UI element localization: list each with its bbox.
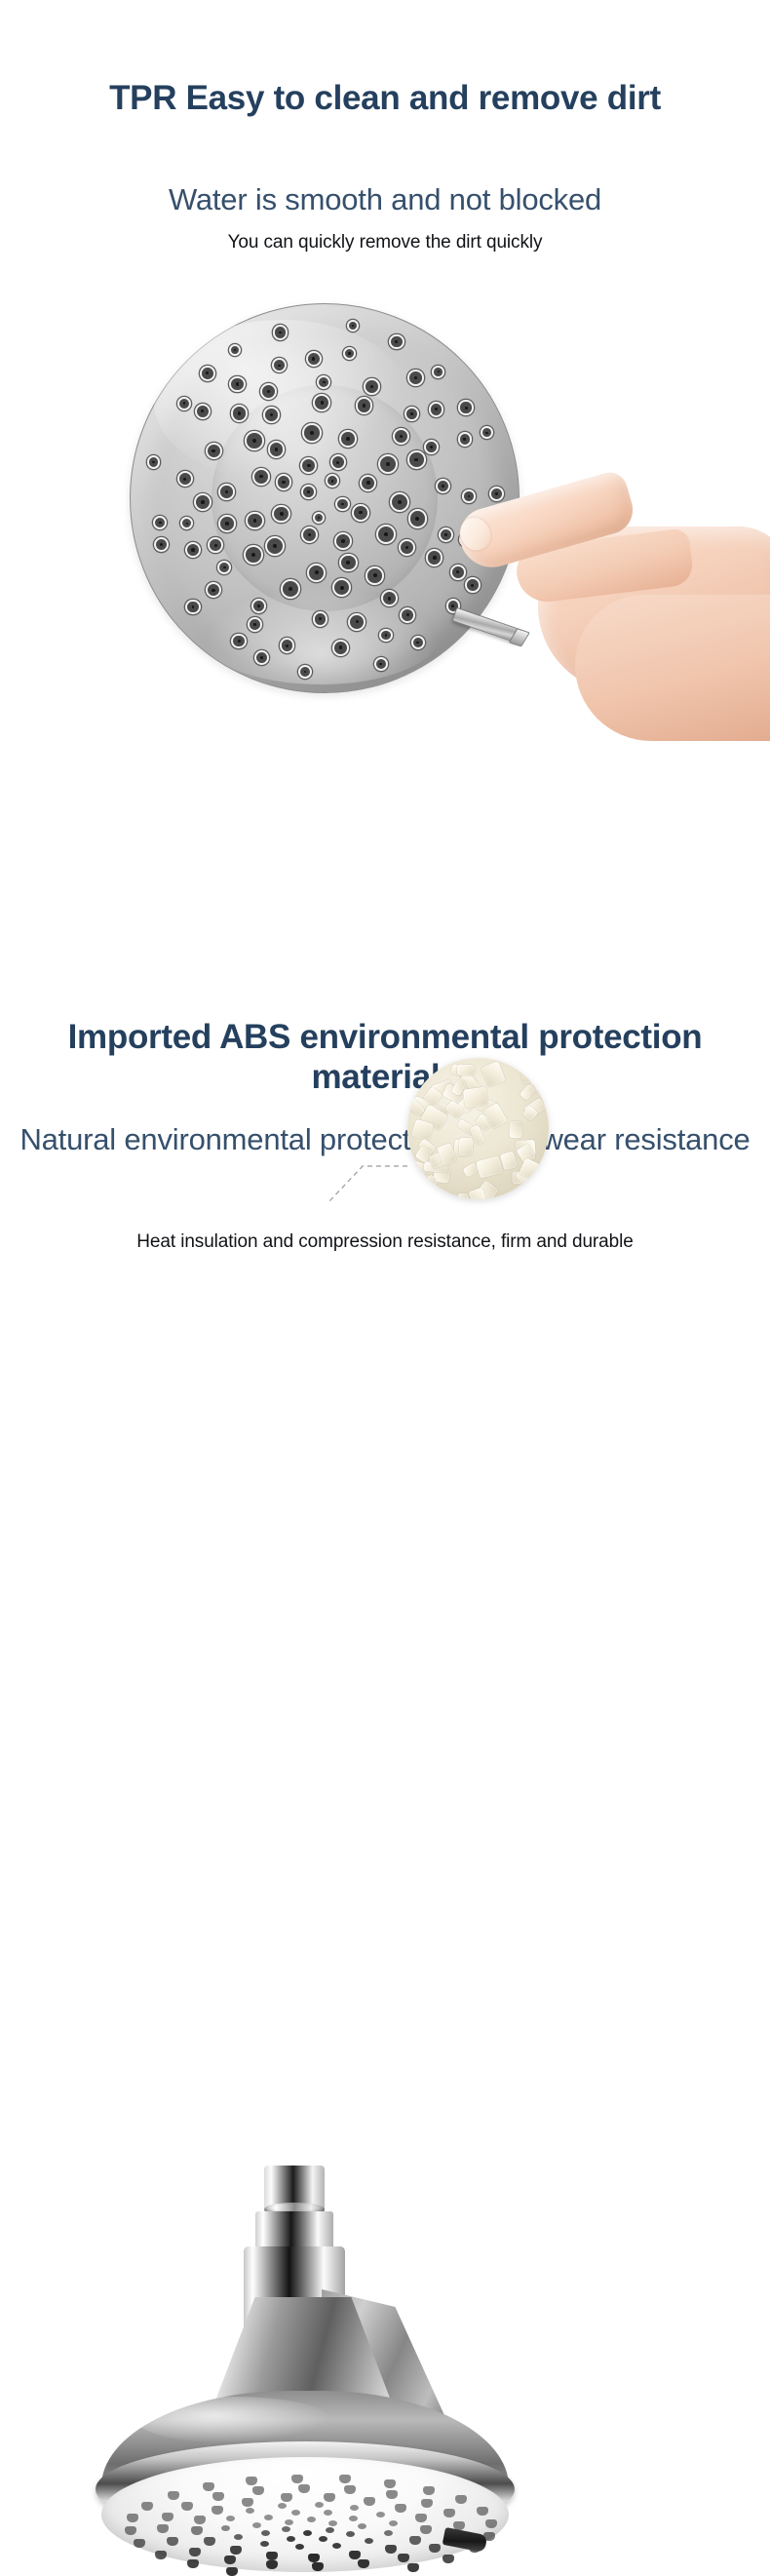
- nozzle: [177, 397, 191, 410]
- spray-jet: [376, 2512, 385, 2517]
- spray-jet: [252, 2522, 261, 2528]
- nozzle: [298, 665, 312, 679]
- spray-jet: [230, 2546, 242, 2555]
- shower-head-body-highlight: [136, 2397, 331, 2443]
- spray-jet: [319, 2536, 327, 2542]
- spray-jet: [194, 2516, 206, 2524]
- nozzle: [332, 640, 349, 656]
- spray-jet: [358, 2559, 369, 2568]
- nozzle: [366, 566, 383, 584]
- product-detail-page: TPR Easy to clean and remove dirt Water …: [0, 0, 770, 1901]
- nozzle: [352, 504, 369, 522]
- nozzle: [381, 590, 398, 606]
- nozzle: [307, 564, 326, 582]
- spray-jet: [266, 2560, 278, 2569]
- spray-jet: [485, 2519, 497, 2528]
- spray-jet: [167, 2537, 178, 2546]
- nozzle: [330, 454, 346, 470]
- nozzle: [426, 549, 443, 566]
- spray-jet: [203, 2482, 214, 2491]
- spray-jet: [295, 2544, 304, 2550]
- nozzle: [360, 475, 376, 491]
- nozzle: [335, 497, 350, 512]
- spray-jet: [477, 2507, 488, 2516]
- nozzle: [343, 347, 356, 360]
- spray-jet: [125, 2526, 136, 2535]
- nozzle: [208, 537, 223, 553]
- nozzle: [195, 404, 211, 419]
- fingernail: [455, 513, 496, 556]
- spray-jet: [191, 2526, 203, 2535]
- nozzle: [280, 638, 294, 652]
- spray-jet: [455, 2495, 467, 2504]
- nozzle: [153, 516, 167, 529]
- nozzle: [334, 532, 352, 550]
- spray-jet: [285, 2519, 293, 2525]
- spray-jet: [350, 2505, 359, 2511]
- spray-jet: [242, 2498, 253, 2507]
- nozzle: [356, 397, 372, 413]
- nozzle: [347, 320, 359, 332]
- spray-jet: [423, 2486, 435, 2495]
- spray-jet: [281, 2493, 292, 2502]
- spray-jet: [246, 2508, 254, 2514]
- nozzle: [154, 537, 169, 552]
- nozzle: [246, 512, 263, 529]
- spray-jet: [326, 2527, 334, 2533]
- nozzle: [393, 428, 409, 445]
- nozzle: [229, 344, 241, 356]
- spray-jet: [312, 2562, 324, 2571]
- spray-jet: [141, 2502, 153, 2511]
- section-1-subheading-block: Water is smooth and not blocked: [0, 181, 770, 217]
- nozzle: [364, 378, 380, 395]
- spray-jet: [365, 2538, 373, 2544]
- nozzle: [379, 629, 392, 642]
- nozzle: [206, 582, 222, 599]
- nozzle: [272, 505, 290, 524]
- nozzle: [217, 561, 231, 574]
- spray-jet: [364, 2497, 375, 2506]
- nozzle: [185, 600, 200, 614]
- spray-jet: [246, 2477, 257, 2485]
- nozzle: [339, 430, 357, 448]
- spray-jet: [261, 2530, 270, 2536]
- hand-palm-lower: [575, 595, 770, 741]
- nozzle: [400, 607, 415, 623]
- nozzle: [424, 440, 439, 454]
- spray-jet: [415, 2514, 427, 2522]
- nozzle: [374, 657, 388, 671]
- nozzle: [436, 479, 450, 493]
- spray-jet: [226, 2516, 235, 2521]
- nozzle: [194, 493, 212, 511]
- nozzle: [313, 394, 330, 411]
- spray-jet: [385, 2545, 397, 2554]
- spray-jet: [189, 2548, 201, 2556]
- nozzle: [263, 407, 280, 423]
- nozzle: [458, 432, 472, 446]
- section-1-heading-block: TPR Easy to clean and remove dirt: [0, 78, 770, 118]
- section-1-description-block: You can quickly remove the dirt quickly: [0, 231, 770, 255]
- spray-jet: [344, 2485, 356, 2494]
- spray-jet: [127, 2514, 138, 2522]
- nozzle: [218, 515, 236, 532]
- spray-jet: [443, 2509, 455, 2517]
- spray-jet: [308, 2554, 320, 2562]
- spray-jet: [298, 2484, 310, 2493]
- spray-jet: [303, 2530, 312, 2536]
- spray-plate-with-jets: [101, 2457, 509, 2572]
- nozzle: [407, 370, 424, 386]
- spray-jet: [224, 2556, 236, 2564]
- spray-jet: [349, 2516, 358, 2521]
- nozzle: [348, 613, 366, 631]
- nozzle: [339, 554, 357, 571]
- spray-jet: [349, 2551, 361, 2559]
- nozzle: [389, 334, 404, 349]
- spray-jet: [260, 2541, 269, 2547]
- section-1-heading: TPR Easy to clean and remove dirt: [0, 78, 770, 118]
- nozzle: [231, 634, 247, 649]
- spray-jet: [252, 2486, 264, 2495]
- spray-jet: [384, 2530, 393, 2536]
- spray-jet: [278, 2503, 287, 2509]
- nozzle: [251, 599, 266, 613]
- spray-jet: [226, 2567, 238, 2576]
- spray-jet: [264, 2515, 273, 2520]
- nozzle: [185, 542, 202, 559]
- spray-jet: [155, 2551, 167, 2559]
- spray-jet: [291, 2510, 300, 2516]
- spray-jet: [287, 2536, 295, 2542]
- nozzle: [411, 636, 425, 649]
- spray-jet: [398, 2554, 409, 2562]
- nozzle: [378, 454, 398, 474]
- spray-jet: [346, 2531, 355, 2537]
- nozzle: [260, 383, 277, 400]
- spray-jet: [328, 2520, 337, 2526]
- nozzle: [273, 325, 288, 339]
- spray-jet: [157, 2524, 169, 2533]
- spray-jet: [395, 2504, 406, 2513]
- spray-jet: [421, 2499, 433, 2508]
- nozzle: [254, 650, 269, 665]
- shower-head-product-with-abs-pellets: [0, 1053, 770, 1901]
- nozzle: [481, 426, 493, 439]
- spray-jet: [168, 2491, 179, 2500]
- nozzle: [252, 468, 270, 486]
- spray-jet: [409, 2536, 421, 2545]
- nozzle: [313, 611, 327, 626]
- nozzle: [177, 471, 193, 487]
- spray-jet: [181, 2502, 193, 2511]
- section-1-description: You can quickly remove the dirt quickly: [0, 231, 770, 255]
- spray-jet: [407, 2563, 419, 2572]
- nozzle: [229, 376, 245, 392]
- hand-pointing-finger: [458, 449, 770, 741]
- section-1-subheading: Water is smooth and not blocked: [0, 181, 770, 217]
- spray-jet: [389, 2520, 398, 2526]
- spray-jet: [221, 2525, 230, 2531]
- nozzle: [147, 455, 161, 469]
- nozzle: [248, 617, 262, 632]
- spray-jet: [212, 2506, 223, 2515]
- spray-jet: [315, 2502, 324, 2508]
- spray-jet: [358, 2523, 366, 2529]
- spray-jet: [204, 2537, 215, 2546]
- nozzle: [245, 431, 264, 450]
- spray-jet: [212, 2492, 224, 2501]
- nozzle: [408, 509, 427, 527]
- spray-jet: [307, 2517, 316, 2522]
- spray-jet: [332, 2543, 341, 2549]
- spray-jet: [443, 2555, 454, 2563]
- nozzle: [404, 407, 419, 421]
- nozzle: [244, 545, 263, 565]
- nozzle: [180, 517, 193, 529]
- spray-jet: [324, 2493, 335, 2502]
- nozzle: [218, 484, 235, 500]
- nozzle: [301, 485, 316, 499]
- spray-jet: [429, 2544, 441, 2553]
- nozzle: [429, 402, 443, 416]
- spray-jet: [134, 2539, 145, 2548]
- nozzle: [390, 492, 409, 512]
- nozzle: [439, 527, 453, 542]
- spray-jet: [420, 2525, 432, 2534]
- nozzle: [206, 443, 222, 459]
- spray-jet: [386, 2490, 398, 2499]
- spray-jet: [324, 2510, 332, 2516]
- spray-jet: [282, 2526, 290, 2532]
- nozzle: [458, 400, 473, 414]
- nozzle: [376, 525, 396, 544]
- spray-jet: [266, 2552, 278, 2560]
- spray-jet: [291, 2475, 303, 2483]
- spray-jet: [339, 2475, 351, 2483]
- spray-jet: [384, 2479, 396, 2488]
- nozzle: [432, 366, 444, 378]
- showerhead-face-with-finger: [0, 293, 770, 751]
- nozzle: [231, 405, 249, 422]
- nozzle: [302, 423, 322, 443]
- spray-jet: [162, 2513, 173, 2521]
- nozzle: [306, 351, 322, 367]
- nozzle: [407, 450, 426, 469]
- spray-jet: [234, 2534, 243, 2540]
- nozzle: [272, 358, 287, 372]
- nozzle: [200, 366, 215, 381]
- spray-jet: [187, 2559, 199, 2568]
